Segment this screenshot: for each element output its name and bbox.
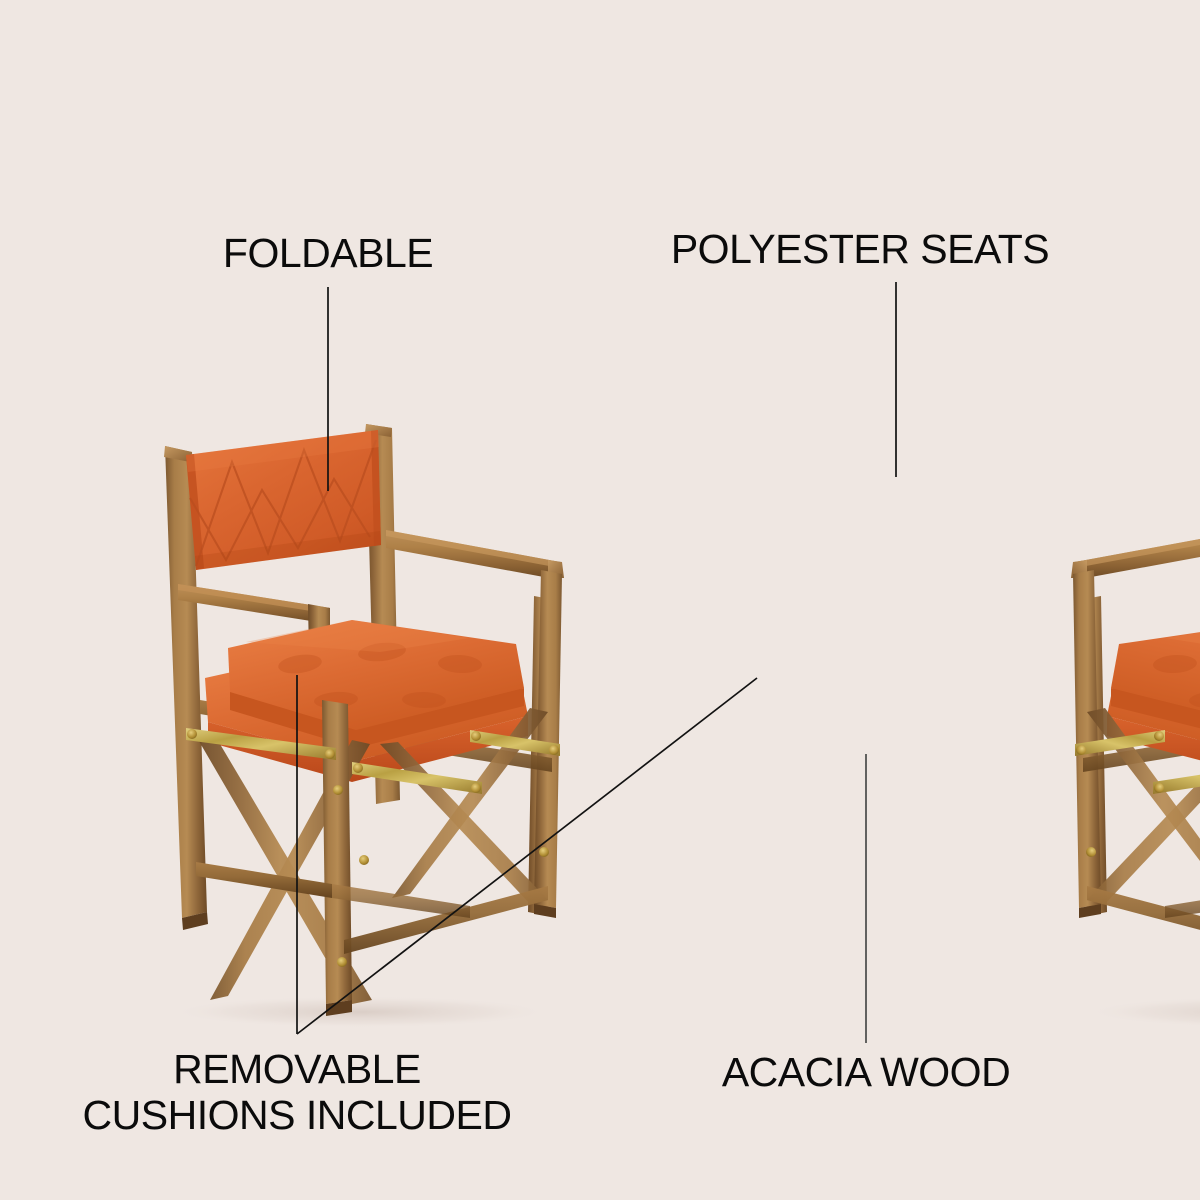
product-feature-image: FOLDABLE POLYESTER SEATS REMOVABLE CUSHI…: [0, 0, 1200, 1200]
product-illustration: [0, 0, 1200, 1200]
callout-label-foldable: FOLDABLE: [223, 231, 433, 277]
callout-label-polyester-seats: POLYESTER SEATS: [671, 227, 1049, 273]
callout-label-acacia-wood: ACACIA WOOD: [722, 1050, 1010, 1096]
callout-label-removable-cushions: REMOVABLE CUSHIONS INCLUDED: [83, 1047, 512, 1139]
